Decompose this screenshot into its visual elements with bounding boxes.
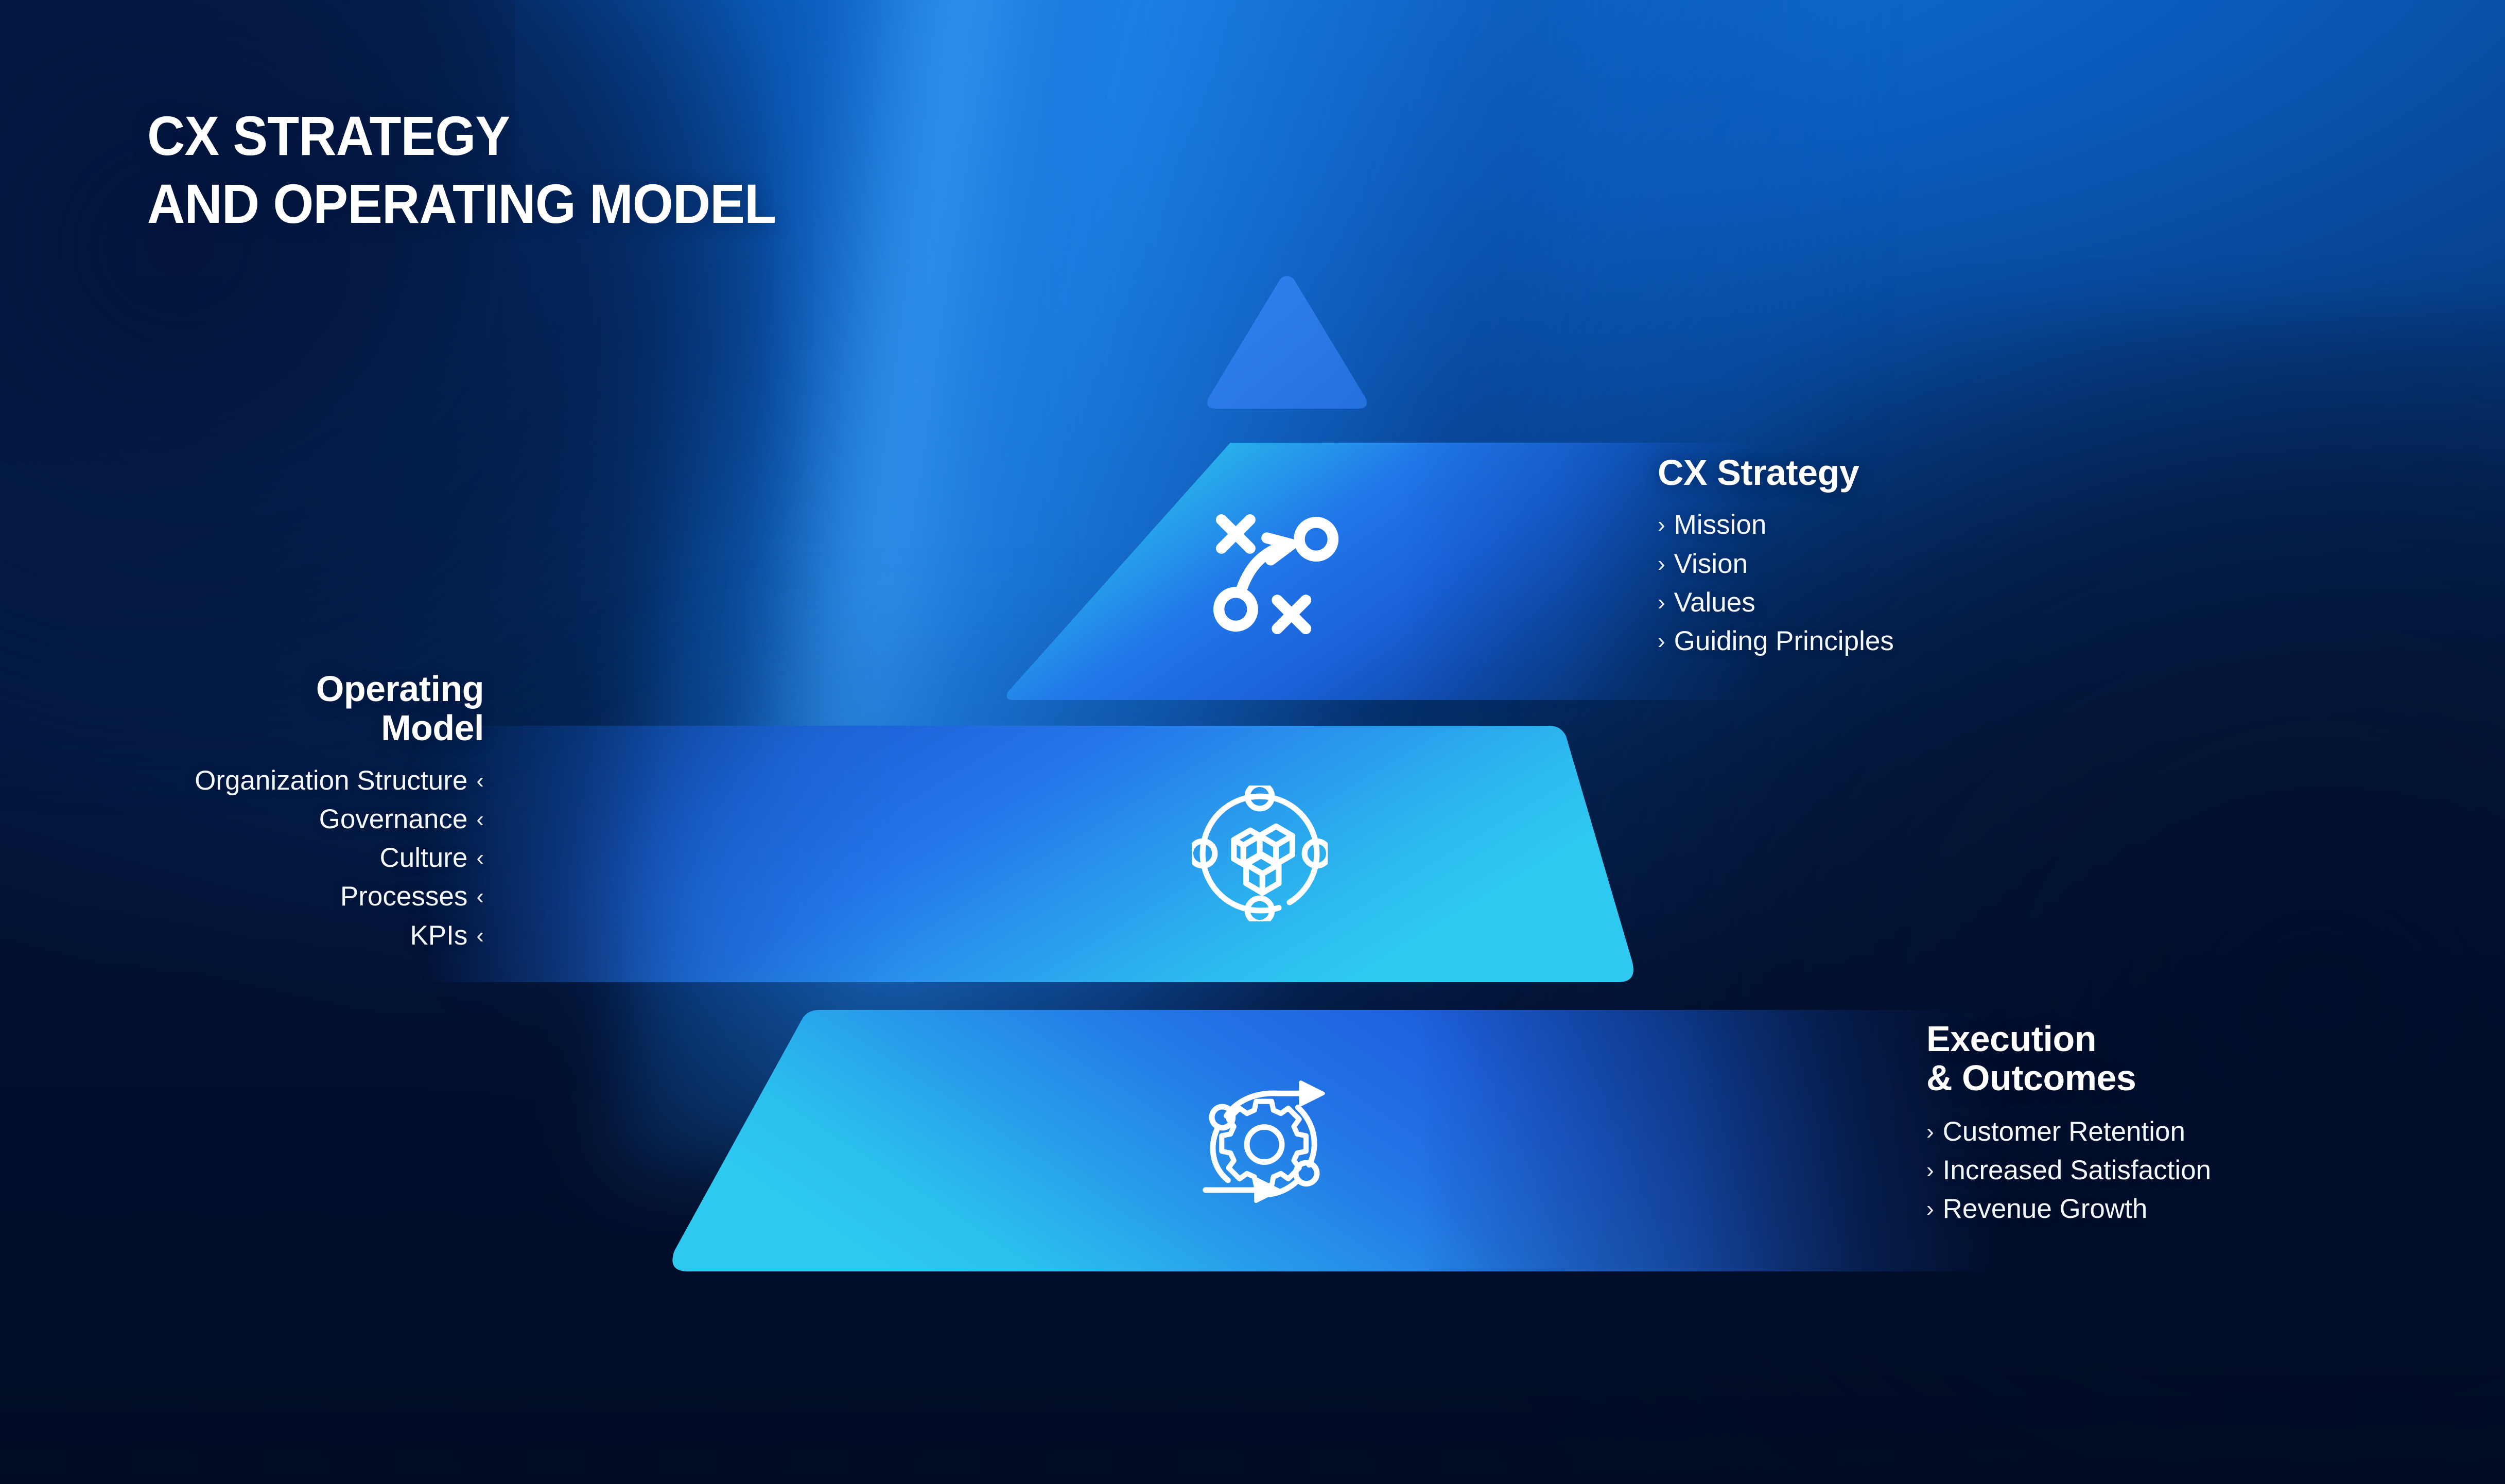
pyramid-tier-strategy[interactable] xyxy=(1004,441,1766,702)
list-item-label: Vision xyxy=(1674,549,1748,579)
chevron-left-icon: ‹ xyxy=(476,920,484,952)
list-item-label: Culture xyxy=(379,843,467,873)
label-list-operating-model: Organization Structure‹ Governance‹ Cult… xyxy=(82,761,484,955)
cube-network-icon xyxy=(1192,785,1328,921)
list-item: ›Increased Satisfaction xyxy=(1926,1151,2211,1190)
chevron-right-icon: › xyxy=(1926,1155,1934,1186)
list-item-label: Increased Satisfaction xyxy=(1943,1155,2211,1185)
slide-canvas: CX STRATEGY AND OPERATING MODEL xyxy=(0,0,2505,1484)
list-item: ›Revenue Growth xyxy=(1926,1190,2211,1228)
list-item: ›Mission xyxy=(1658,505,1894,544)
list-item-label: Revenue Growth xyxy=(1943,1194,2148,1224)
list-item: ›Vision xyxy=(1658,545,1894,583)
label-list-execution: ›Customer Retention ›Increased Satisfact… xyxy=(1926,1112,2211,1229)
list-item: Organization Structure‹ xyxy=(82,761,484,800)
strategy-tactics-icon xyxy=(1210,505,1340,635)
list-item: ›Values xyxy=(1658,583,1894,622)
chevron-left-icon: ‹ xyxy=(476,881,484,913)
list-item-label: Values xyxy=(1674,587,1755,618)
chevron-left-icon: ‹ xyxy=(476,804,484,835)
label-heading-execution: Execution & Outcomes xyxy=(1926,1019,2211,1098)
list-item-label: Governance xyxy=(319,804,468,834)
pyramid-tier-execution[interactable] xyxy=(669,1008,2008,1273)
chevron-right-icon: › xyxy=(1658,587,1665,619)
chevron-right-icon: › xyxy=(1658,548,1665,580)
list-item: ›Customer Retention xyxy=(1926,1112,2211,1151)
chevron-right-icon: › xyxy=(1658,509,1665,541)
list-item: KPIs‹ xyxy=(82,916,484,955)
list-item-label: Processes xyxy=(340,881,467,912)
label-block-strategy: CX Strategy ›Mission ›Vision ›Values ›Gu… xyxy=(1658,453,1894,660)
list-item: Processes‹ xyxy=(82,877,484,916)
chevron-right-icon: › xyxy=(1926,1116,1934,1148)
chevron-left-icon: ‹ xyxy=(476,842,484,874)
list-item-label: Organization Structure xyxy=(195,765,467,796)
list-item-label: Guiding Principles xyxy=(1674,626,1894,656)
list-item: Culture‹ xyxy=(82,839,484,877)
label-block-execution: Execution & Outcomes ›Customer Retention… xyxy=(1926,1019,2211,1228)
label-heading-strategy: CX Strategy xyxy=(1658,453,1894,492)
list-item-label: Customer Retention xyxy=(1943,1116,2185,1147)
chevron-left-icon: ‹ xyxy=(476,765,484,797)
list-item-label: KPIs xyxy=(410,920,467,951)
pyramid-tier-operating-model[interactable] xyxy=(422,724,1699,984)
label-block-operating-model: Operating Model Organization Structure‹ … xyxy=(82,669,484,955)
label-heading-operating-model: Operating Model xyxy=(82,669,484,748)
chevron-right-icon: › xyxy=(1658,625,1665,657)
gear-process-icon xyxy=(1194,1070,1334,1210)
pyramid-apex xyxy=(1205,272,1369,414)
chevron-right-icon: › xyxy=(1926,1193,1934,1225)
list-item: Governance‹ xyxy=(82,800,484,839)
list-item-label: Mission xyxy=(1674,510,1767,540)
list-item: ›Guiding Principles xyxy=(1658,622,1894,660)
label-list-strategy: ›Mission ›Vision ›Values ›Guiding Princi… xyxy=(1658,505,1894,660)
